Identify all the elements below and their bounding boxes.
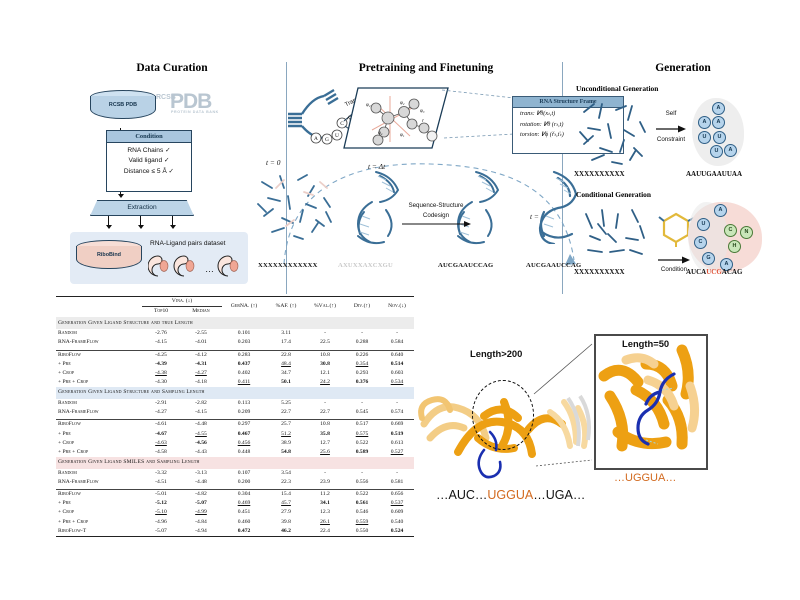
- panel-data-curation: Data Curation RCSB PDB RCSB PDB PROTEIN …: [58, 62, 286, 294]
- table-cell: 25.7: [266, 420, 306, 430]
- table-row: RNA-FrameFlow-4.51-4.480.20022.323.90.55…: [56, 478, 414, 487]
- nt-circle-u1: U: [698, 131, 711, 144]
- table-row-label: + Pre + Crop: [56, 378, 142, 387]
- table-row-label: Random: [56, 329, 142, 338]
- condition-item-distance: Distance ≤ 5 Å ✓: [107, 164, 191, 175]
- table-cell: 0.546: [344, 508, 380, 517]
- col-af: %AF. (↑): [266, 297, 306, 318]
- nt-circle-cond-c: C: [694, 236, 707, 249]
- table-cell: 50.1: [266, 378, 306, 387]
- table-cell: 23.9: [306, 478, 344, 487]
- table-cell: 12.3: [306, 508, 344, 517]
- panel-generation: Generation Unconditional Generation XXXX…: [566, 62, 800, 294]
- table-cell: 0.288: [344, 338, 380, 347]
- conditional-noise-glyph: [580, 204, 652, 266]
- svg-text:…: …: [205, 264, 214, 274]
- table-row: RNA-FrameFlow-4.15-4.010.20317.422.50.28…: [56, 338, 414, 347]
- table-row-label: RNA-FrameFlow: [56, 338, 142, 347]
- codesign-label-line2: Codesign: [398, 212, 474, 220]
- table-cell: 0.581: [380, 478, 414, 487]
- sequence-label-1: AXUXXAXCXGU: [338, 262, 393, 269]
- table-cell: 0.467: [222, 430, 266, 439]
- condition-item-rna-chains: RNA Chains ✓: [107, 143, 191, 154]
- table-cell: 22.4: [306, 527, 344, 537]
- dataset-caption: RNA-Ligand pairs dataset: [150, 240, 226, 247]
- table-cell: -4.01: [180, 338, 222, 347]
- results-table-wrapper: Vina. (↓) GerNA. (↑) %AF. (↑) %Val.(↑) D…: [56, 296, 414, 537]
- torsion-frame-diagram: φ₂φ₂ φ₃φ₁ φ₄r: [342, 86, 450, 152]
- table-cell: 0.203: [222, 338, 266, 347]
- table-cell: 0.297: [222, 420, 266, 430]
- table-section-header: Generation Given Ligand Structure and Sa…: [56, 387, 414, 399]
- conditional-output-pre: AUCA: [686, 268, 706, 276]
- conditional-output-highlight: UCG: [706, 268, 722, 276]
- table-row: + Pre + Crop-4.30-4.180.41150.124.20.376…: [56, 378, 414, 387]
- table-row-label: RNA-FrameFlow: [56, 478, 142, 487]
- table-cell: 26.1: [306, 518, 344, 527]
- table-cell: -2.91: [142, 399, 180, 408]
- table-cell: -5.12: [142, 499, 180, 508]
- table-cell: 0.402: [222, 369, 266, 378]
- table-cell: -4.82: [180, 490, 222, 500]
- table-cell: 0.448: [222, 448, 266, 457]
- svg-text:φ₁: φ₁: [400, 133, 405, 138]
- table-cell: 0.527: [380, 448, 414, 457]
- table-cell: 0.561: [344, 499, 380, 508]
- table-row: + Pre-5.12-5.070.46945.734.10.5610.537: [56, 499, 414, 508]
- flow-arrow-head-1: [118, 194, 124, 198]
- svg-text:r: r: [422, 119, 424, 124]
- table-cell: -4.25: [142, 350, 180, 360]
- table-row-label: RiboFlow: [56, 350, 142, 360]
- table-cell: -4.39: [142, 360, 180, 369]
- table-cell: -3.13: [180, 469, 222, 478]
- table-cell: -4.56: [180, 439, 222, 448]
- flow-arrow-head-3: [138, 225, 144, 229]
- conditional-input-sequence: XXXXXXXXXX: [574, 268, 625, 276]
- table-row-label: + Pre: [56, 360, 142, 369]
- results-table: Vina. (↓) GerNA. (↑) %AF. (↑) %Val.(↑) D…: [56, 296, 414, 537]
- length-label-long: Length>200: [470, 348, 522, 359]
- ligand-atom-c: C: [724, 224, 737, 237]
- table-cell: 39.8: [266, 518, 306, 527]
- table-cell: 30.8: [306, 360, 344, 369]
- table-cell: 0.550: [344, 527, 380, 537]
- flow-arrow-head-2: [106, 225, 112, 229]
- long-sequence-caption: …AUC…UGGUA…UGA…: [436, 488, 585, 502]
- table-row-label: RiboFlow: [56, 420, 142, 430]
- table-cell: 34.1: [306, 499, 344, 508]
- table-cell: -5.10: [142, 508, 180, 517]
- table-cell: 22.8: [266, 350, 306, 360]
- table-cell: -5.07: [180, 499, 222, 508]
- table-cell: -4.58: [142, 448, 180, 457]
- table-cell: 0.469: [222, 499, 266, 508]
- svg-text:φ₃: φ₃: [420, 109, 425, 114]
- table-row: RiboFlow-5.01-4.820.30415.411.20.5220.65…: [56, 490, 414, 500]
- table-cell: 0.293: [344, 369, 380, 378]
- table-cell: -: [344, 329, 380, 338]
- table-row: RiboFlow-4.25-4.120.28322.810.80.2260.64…: [56, 350, 414, 360]
- table-cell: 0.559: [344, 518, 380, 527]
- condition-arrow: [656, 254, 692, 266]
- table-cell: 38.9: [266, 439, 306, 448]
- noise-cloud-glyph: [254, 170, 342, 250]
- condition-box: Condition RNA Chains ✓ Valid ligand ✓ Di…: [106, 130, 192, 192]
- zoom-leader-lines: [526, 340, 598, 468]
- nt-circle-a2: A: [698, 116, 711, 129]
- table-cell: 0.519: [380, 430, 414, 439]
- table-cell: -4.18: [180, 378, 222, 387]
- table-section-header: Generation Given Ligand SMILES and Sampl…: [56, 457, 414, 469]
- table-cell: 0.113: [222, 399, 266, 408]
- table-cell: 0.656: [380, 490, 414, 500]
- ligand-atom-h: H: [728, 240, 741, 253]
- rna-ligand-pair-glyphs: …: [148, 252, 248, 282]
- table-cell: 25.6: [306, 448, 344, 457]
- table-row-label: + Pre + Crop: [56, 518, 142, 527]
- frame-connector-lines: [440, 84, 520, 148]
- table-cell: 0.451: [222, 508, 266, 517]
- panel-title-generation: Generation: [566, 62, 800, 74]
- codesign-arrow: [400, 220, 474, 228]
- nt-circle-cond-u: U: [697, 218, 710, 231]
- codesign-label-line1: Sequence-Structure: [398, 202, 474, 210]
- table-cell: 35.8: [306, 430, 344, 439]
- table-cell: -5.07: [142, 527, 180, 537]
- table-row-label: + Crop: [56, 439, 142, 448]
- table-cell: -2.82: [180, 399, 222, 408]
- svg-text:φ₂: φ₂: [366, 103, 371, 108]
- table-section-header: Generation Given Ligand Structure and tr…: [56, 317, 414, 329]
- table-cell: -4.94: [180, 527, 222, 537]
- nt-circle-cond-a1: A: [714, 204, 727, 217]
- table-row: RiboFlow-T-5.07-4.940.47246.222.40.5500.…: [56, 527, 414, 537]
- table-cell: 0.472: [222, 527, 266, 537]
- table-cell: 22.3: [266, 478, 306, 487]
- table-cell: 45.7: [266, 499, 306, 508]
- table-cell: 0.574: [380, 408, 414, 417]
- table-cell: -4.96: [142, 518, 180, 527]
- sequence-label-0: XXXXXXXXXXXX: [258, 262, 318, 269]
- table-cell: 22.7: [266, 408, 306, 417]
- rcsb-pdb-database-icon: RCSB PDB: [90, 90, 156, 124]
- table-row: + Crop-4.63-4.560.45638.912.70.5220.613: [56, 439, 414, 448]
- unconditional-noise-glyph: [578, 98, 650, 168]
- table-cell: 0.545: [344, 408, 380, 417]
- unconditional-input-sequence: XXXXXXXXXX: [574, 170, 625, 178]
- table-cell: 27.9: [266, 508, 306, 517]
- table-cell: -4.48: [180, 420, 222, 430]
- table-row-label: + Pre + Crop: [56, 448, 142, 457]
- long-sequence-pre: …AUC…: [436, 488, 487, 502]
- table-row-label: Random: [56, 469, 142, 478]
- table-cell: -4.51: [142, 478, 180, 487]
- table-header-group-row: Vina. (↓) GerNA. (↑) %AF. (↑) %Val.(↑) D…: [56, 297, 414, 307]
- table-cell: 0.517: [344, 420, 380, 430]
- table-cell: -: [344, 469, 380, 478]
- zoom-rna-structure: [596, 336, 706, 468]
- table-cell: 17.4: [266, 338, 306, 347]
- timestep-label-t0: t = 0: [266, 158, 280, 167]
- conditional-output-post: ACAG: [722, 268, 743, 276]
- svg-text:U: U: [335, 133, 339, 139]
- table-cell: -: [380, 329, 414, 338]
- table-cell: 10.8: [306, 350, 344, 360]
- table-cell: 0.514: [380, 360, 414, 369]
- table-cell: 22.5: [306, 338, 344, 347]
- zoom-detail-box: [594, 334, 708, 470]
- table-cell: -3.32: [142, 469, 180, 478]
- table-cell: -4.99: [180, 508, 222, 517]
- table-cell: -4.67: [142, 430, 180, 439]
- col-top10: Top10: [142, 307, 180, 318]
- self-constraint-label-1: Self: [650, 110, 692, 118]
- conditional-heading: Conditional Generation: [576, 190, 651, 199]
- panel-pretraining: Pretraining and Finetuning AG UC: [290, 62, 562, 294]
- table-cell: 0.437: [222, 360, 266, 369]
- unconditional-heading: Unconditional Generation: [576, 84, 658, 93]
- extraction-step: Extraction: [90, 200, 194, 216]
- svg-text:φ₄: φ₄: [378, 131, 383, 136]
- table-cell: 0.283: [222, 350, 266, 360]
- table-cell: -4.55: [180, 430, 222, 439]
- table-cell: -: [344, 399, 380, 408]
- table-cell: 11.2: [306, 490, 344, 500]
- table-cell: -4.27: [180, 369, 222, 378]
- svg-text:A: A: [314, 136, 318, 142]
- table-cell: 0.669: [380, 420, 414, 430]
- table-section-title: Generation Given Ligand Structure and tr…: [56, 317, 414, 329]
- table-cell: 0.209: [222, 408, 266, 417]
- table-row-label: + Crop: [56, 508, 142, 517]
- table-cell: 15.4: [266, 490, 306, 500]
- svg-text:φ₂: φ₂: [400, 101, 405, 106]
- long-sequence-highlight: UGGUA: [487, 488, 533, 502]
- table-cell: 0.584: [380, 338, 414, 347]
- col-div: Div.(↑): [344, 297, 380, 318]
- table-row: RiboFlow-4.61-4.480.29725.710.80.5170.66…: [56, 420, 414, 430]
- table-cell: 51.2: [266, 430, 306, 439]
- nt-circle-cond-g: G: [702, 252, 715, 265]
- table-row: RNA-FrameFlow-4.27-4.150.20922.722.70.54…: [56, 408, 414, 417]
- col-nov: Nov.(↓): [380, 297, 414, 318]
- table-cell: 0.524: [380, 527, 414, 537]
- panel-title-pretraining: Pretraining and Finetuning: [290, 62, 562, 74]
- table-cell: 12.7: [306, 439, 344, 448]
- table-cell: 0.575: [344, 430, 380, 439]
- sequence-label-2: AUCGAAUCCAG: [438, 262, 493, 269]
- table-cell: 3.11: [266, 329, 306, 338]
- table-row: + Pre-4.39-4.310.43748.430.80.3540.514: [56, 360, 414, 369]
- col-median: Median: [180, 307, 222, 318]
- table-row-label: + Pre: [56, 499, 142, 508]
- long-sequence-post: …UGA…: [533, 488, 585, 502]
- table-cell: 0.522: [344, 490, 380, 500]
- table-row-label: RNA-FrameFlow: [56, 408, 142, 417]
- table-row: Random-3.32-3.130.1073.54---: [56, 469, 414, 478]
- table-cell: -: [306, 329, 344, 338]
- table-cell: 0.540: [380, 518, 414, 527]
- table-row: + Crop-5.10-4.990.45127.912.30.5460.609: [56, 508, 414, 517]
- table-row-label: RiboFlow-T: [56, 527, 142, 537]
- table-cell: 22.7: [306, 408, 344, 417]
- table-cell: -4.27: [142, 408, 180, 417]
- unconditional-output-sequence: AAUUGAAUUAA: [686, 170, 742, 178]
- pdb-subtitle: PROTEIN DATA BANK: [171, 110, 219, 114]
- table-cell: -4.61: [142, 420, 180, 430]
- table-cell: 0.376: [344, 378, 380, 387]
- col-group-vina: Vina. (↓): [142, 297, 222, 307]
- table-cell: 0.107: [222, 469, 266, 478]
- zoom-region-circle: [472, 380, 534, 450]
- table-cell: 0.101: [222, 329, 266, 338]
- table-cell: 0.200: [222, 478, 266, 487]
- table-cell: 0.613: [380, 439, 414, 448]
- nt-circle-u2: U: [713, 131, 726, 144]
- table-cell: 0.456: [222, 439, 266, 448]
- table-cell: -: [306, 399, 344, 408]
- table-section-title: Generation Given Ligand SMILES and Sampl…: [56, 457, 414, 469]
- table-cell: -4.48: [180, 478, 222, 487]
- table-row-label: Random: [56, 399, 142, 408]
- self-constraint-label-2: Constraint: [650, 136, 692, 144]
- condition-box-header: Condition: [107, 131, 191, 143]
- nt-circle-a1: A: [712, 102, 725, 115]
- table-cell: 0.609: [380, 508, 414, 517]
- flow-arrow-head-4: [170, 225, 176, 229]
- ribobind-label: RiboBind: [76, 252, 142, 258]
- table-cell: -4.31: [180, 360, 222, 369]
- table-cell: -: [380, 399, 414, 408]
- table-cell: -4.63: [142, 439, 180, 448]
- table-cell: -: [380, 469, 414, 478]
- table-cell: -4.84: [180, 518, 222, 527]
- figure-rna-structures: Length>200: [418, 300, 800, 550]
- table-row-label: RiboFlow: [56, 490, 142, 500]
- table-cell: 0.226: [344, 350, 380, 360]
- table-row: + Pre + Crop-4.58-4.430.44854.825.60.589…: [56, 448, 414, 457]
- ligand-atom-n: N: [740, 226, 753, 239]
- nt-circle-a3: A: [712, 116, 725, 129]
- table-row: + Pre-4.67-4.550.46751.235.80.5750.519: [56, 430, 414, 439]
- table-row: Random-2.91-2.820.1135.25---: [56, 399, 414, 408]
- table-cell: 0.460: [222, 518, 266, 527]
- table-cell: -4.43: [180, 448, 222, 457]
- table-cell: 0.640: [380, 350, 414, 360]
- table-cell: -4.30: [142, 378, 180, 387]
- table-cell: 34.7: [266, 369, 306, 378]
- table-cell: 46.2: [266, 527, 306, 537]
- table-cell: 48.4: [266, 360, 306, 369]
- table-cell: -2.76: [142, 329, 180, 338]
- table-cell: 0.411: [222, 378, 266, 387]
- table-cell: -4.15: [180, 408, 222, 417]
- table-cell: 12.1: [306, 369, 344, 378]
- table-row: Random-2.76-2.550.1013.11---: [56, 329, 414, 338]
- database-label: RCSB PDB: [90, 102, 156, 108]
- table-cell: 24.2: [306, 378, 344, 387]
- table-cell: -4.12: [180, 350, 222, 360]
- table-cell: 3.54: [266, 469, 306, 478]
- table-cell: 0.556: [344, 478, 380, 487]
- table-cell: 0.522: [344, 439, 380, 448]
- table-cell: 0.589: [344, 448, 380, 457]
- svg-text:G: G: [325, 137, 329, 143]
- table-cell: 0.603: [380, 369, 414, 378]
- table-head: Vina. (↓) GerNA. (↑) %AF. (↑) %Val.(↑) D…: [56, 297, 414, 318]
- table-cell: -4.38: [142, 369, 180, 378]
- table-row-label: + Crop: [56, 369, 142, 378]
- conditional-output-sequence: AUCAUCGACAG: [686, 268, 742, 276]
- table-cell: 0.534: [380, 378, 414, 387]
- table-cell: 0.304: [222, 490, 266, 500]
- self-constraint-arrow: [654, 122, 688, 136]
- table-row-label: + Pre: [56, 430, 142, 439]
- table-cell: 0.537: [380, 499, 414, 508]
- ribobind-database-icon: RiboBind: [76, 240, 142, 274]
- table-cell: 54.8: [266, 448, 306, 457]
- table-row: + Crop-4.38-4.270.40234.712.10.2930.603: [56, 369, 414, 378]
- zoom-sequence-caption: …UGGUA…: [614, 472, 676, 484]
- condition-item-valid-ligand: Valid ligand ✓: [107, 154, 191, 165]
- nt-circle-u3: U: [710, 145, 723, 158]
- nt-circle-a4: A: [724, 144, 737, 157]
- col-val: %Val.(↑): [306, 297, 344, 318]
- panel-title-data-curation: Data Curation: [58, 62, 286, 74]
- figure-root: Data Curation RCSB PDB RCSB PDB PROTEIN …: [0, 0, 800, 600]
- table-body: Generation Given Ligand Structure and tr…: [56, 317, 414, 536]
- table-cell: 10.8: [306, 420, 344, 430]
- table-cell: -5.01: [142, 490, 180, 500]
- table-section-title: Generation Given Ligand Structure and Sa…: [56, 387, 414, 399]
- length-label-zoom: Length=50: [622, 338, 669, 349]
- col-gerna: GerNA. (↑): [222, 297, 266, 318]
- table-cell: 0.354: [344, 360, 380, 369]
- table-cell: -4.15: [142, 338, 180, 347]
- top-panel-row: Data Curation RCSB PDB RCSB PDB PROTEIN …: [58, 62, 800, 294]
- table-cell: 5.25: [266, 399, 306, 408]
- table-cell: -: [306, 469, 344, 478]
- table-row: + Pre + Crop-4.96-4.840.46039.826.10.559…: [56, 518, 414, 527]
- table-cell: -2.55: [180, 329, 222, 338]
